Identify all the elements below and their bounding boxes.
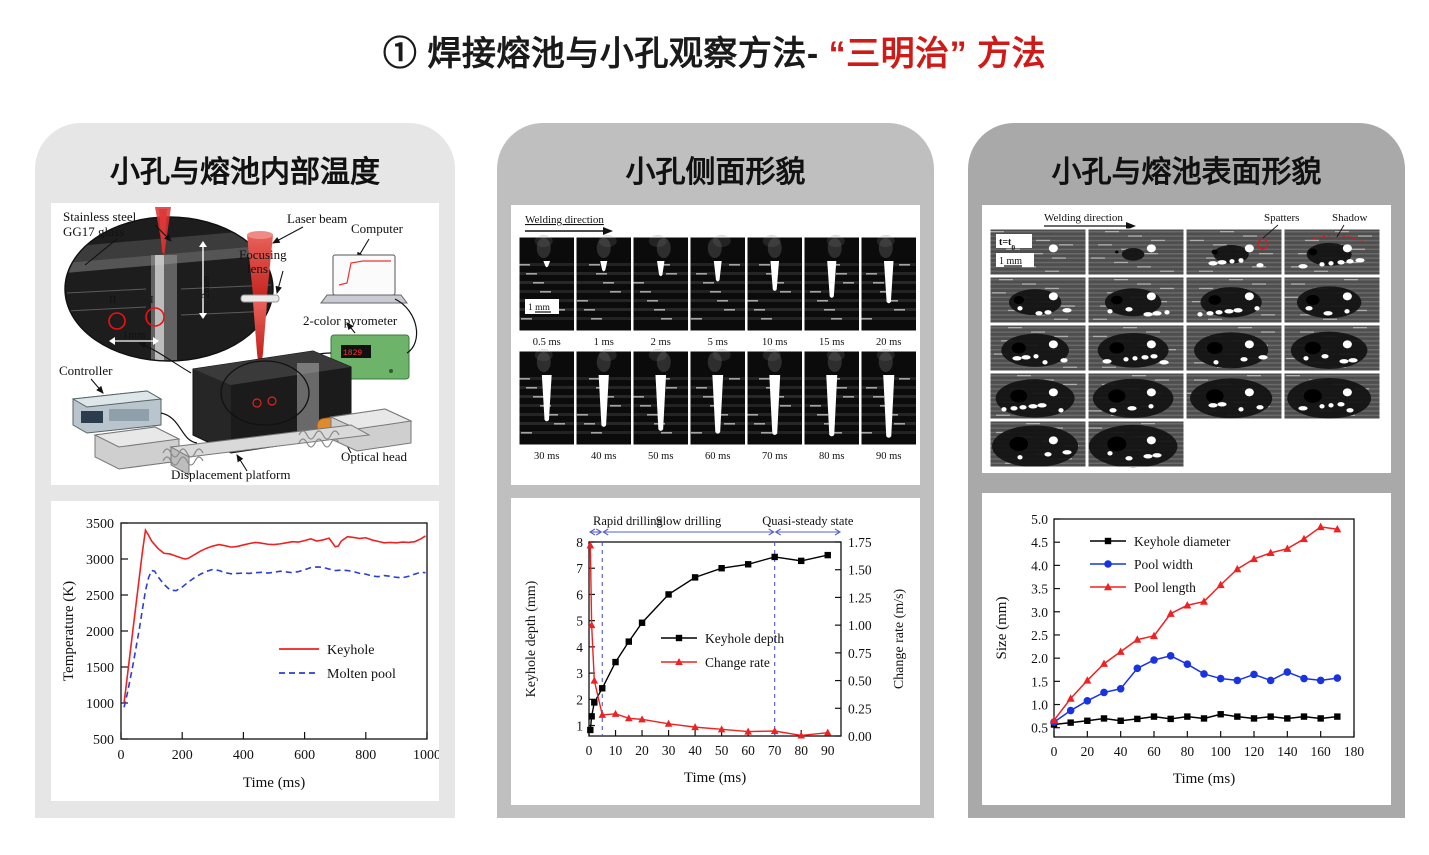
lens-label: lens bbox=[247, 261, 268, 276]
svg-text:40: 40 bbox=[688, 743, 702, 758]
svg-text:100: 100 bbox=[1211, 744, 1232, 759]
svg-text:0.25: 0.25 bbox=[848, 701, 872, 716]
frame-time-label: 70 ms bbox=[762, 451, 787, 462]
svg-text:180: 180 bbox=[1344, 744, 1365, 759]
svg-text:400: 400 bbox=[233, 748, 254, 763]
stainless-steel-label: Stainless steel bbox=[63, 209, 137, 224]
svg-text:1.5: 1.5 bbox=[1031, 674, 1048, 689]
svg-text:200: 200 bbox=[172, 748, 193, 763]
panel-1-title: 小孔与熔池内部温度 bbox=[35, 147, 455, 191]
svg-text:800: 800 bbox=[355, 748, 376, 763]
slide-number: ① bbox=[383, 35, 418, 73]
svg-text:2.5: 2.5 bbox=[1031, 628, 1048, 643]
welding-direction-label: Welding direction bbox=[1044, 212, 1123, 224]
svg-text:160: 160 bbox=[1311, 744, 1332, 759]
svg-text:2500: 2500 bbox=[86, 589, 114, 604]
svg-text:1.0: 1.0 bbox=[1031, 698, 1048, 713]
displacement-platform-label: Displacement platform bbox=[171, 467, 291, 482]
surface-frame bbox=[990, 277, 1086, 323]
phase-annotation: Slow drilling bbox=[656, 514, 722, 528]
gg17-glass-label: GG17 glass bbox=[63, 224, 124, 239]
svg-text:0: 0 bbox=[118, 748, 125, 763]
surface-frame bbox=[1284, 277, 1380, 323]
focusing-label: Focusing bbox=[239, 247, 287, 262]
surface-frame bbox=[1284, 373, 1380, 419]
svg-text:3: 3 bbox=[576, 666, 583, 681]
svg-text:5: 5 bbox=[576, 614, 583, 629]
svg-text:0: 0 bbox=[586, 743, 593, 758]
svg-text:1.75: 1.75 bbox=[848, 535, 872, 550]
computer-illustration bbox=[321, 255, 407, 303]
svg-text:60: 60 bbox=[741, 743, 755, 758]
legend-pool-length: Pool length bbox=[1134, 580, 1196, 595]
temp-x-axis-label: Time (ms) bbox=[243, 775, 305, 791]
frame-time-label: 30 ms bbox=[534, 451, 559, 462]
svg-text:1.00: 1.00 bbox=[848, 618, 872, 633]
surface-frame bbox=[1088, 421, 1184, 468]
legend-pool-width: Pool width bbox=[1134, 557, 1193, 572]
experimental-setup-diagram: 2mm 1mm I II Stainless steel GG17 glass … bbox=[51, 203, 439, 485]
svg-text:1.25: 1.25 bbox=[848, 590, 872, 605]
svg-text:0.50: 0.50 bbox=[848, 674, 872, 689]
phase-annotation: Quasi-steady state bbox=[762, 514, 854, 528]
frame-time-label: 5 ms bbox=[708, 337, 728, 348]
legend-change-rate: Change rate bbox=[705, 655, 770, 670]
svg-text:8: 8 bbox=[576, 535, 583, 550]
surface-frame bbox=[1186, 229, 1282, 275]
surface-frame bbox=[1088, 325, 1184, 371]
svg-text:6: 6 bbox=[576, 587, 583, 602]
laser-beam-label: Laser beam bbox=[287, 211, 347, 226]
svg-text:3.0: 3.0 bbox=[1031, 605, 1048, 620]
surface-frame bbox=[1186, 373, 1282, 419]
surface-frame bbox=[1186, 325, 1282, 371]
welding-direction-label: Welding direction bbox=[525, 214, 604, 226]
pyrometer-label: 2-color pyrometer bbox=[303, 313, 398, 328]
svg-text:50: 50 bbox=[715, 743, 729, 758]
depth-y2-axis-label: Change rate (m/s) bbox=[892, 589, 907, 690]
svg-text:4.5: 4.5 bbox=[1031, 535, 1048, 550]
svg-text:120: 120 bbox=[1244, 744, 1265, 759]
surface-frame bbox=[1284, 229, 1380, 275]
pool-size-chart: 0.51.01.52.02.53.03.54.04.55.00204060801… bbox=[982, 493, 1391, 805]
frame-time-label: 80 ms bbox=[819, 451, 844, 462]
panel-internal-temperature: 小孔与熔池内部温度 bbox=[35, 123, 455, 818]
svg-text:1000: 1000 bbox=[413, 748, 439, 763]
frame-time-label: 15 ms bbox=[819, 337, 844, 348]
frame-time-label: 90 ms bbox=[876, 451, 901, 462]
svg-text:4.0: 4.0 bbox=[1031, 558, 1048, 573]
frame-time-label: 10 ms bbox=[762, 337, 787, 348]
surface-frame bbox=[1088, 229, 1184, 275]
surface-frame bbox=[1088, 373, 1184, 419]
surface-frame bbox=[1284, 325, 1380, 371]
title-highlight-text: “三明治” 方法 bbox=[829, 35, 1046, 73]
frame-time-label: 0.5 ms bbox=[533, 337, 561, 348]
svg-text:80: 80 bbox=[1181, 744, 1195, 759]
keyhole-side-frames-grid: Welding direction0.5 ms1 ms2 ms5 ms10 ms… bbox=[511, 205, 920, 485]
shadow-label: Shadow bbox=[1332, 212, 1368, 224]
page-title: ① 焊接熔池与小孔观察方法- “三明治” 方法 bbox=[0, 26, 1429, 75]
legend-keyhole-depth: Keyhole depth bbox=[705, 631, 784, 646]
computer-label: Computer bbox=[351, 221, 404, 236]
svg-text:4: 4 bbox=[576, 640, 583, 655]
region-I-label: I bbox=[150, 294, 154, 306]
svg-text:0: 0 bbox=[1051, 744, 1058, 759]
svg-text:20: 20 bbox=[1081, 744, 1095, 759]
temperature-chart: 5001000150020002500300035000200400600800… bbox=[51, 501, 439, 801]
depth-x-axis-label: Time (ms) bbox=[684, 770, 746, 786]
title-main-text: 焊接熔池与小孔观察方法- bbox=[427, 35, 818, 73]
size-y-axis-label: Size (mm) bbox=[994, 597, 1010, 660]
surface-frames-grid: Welding directionSpattersShadowt=t01 mm bbox=[982, 205, 1391, 473]
legend-keyhole: Keyhole bbox=[327, 643, 374, 658]
keyhole-depth-chart: 123456780.000.250.500.751.001.251.501.75… bbox=[511, 498, 920, 805]
svg-text:1.50: 1.50 bbox=[848, 563, 872, 578]
scale-bar-label: 1 mm bbox=[999, 256, 1022, 267]
svg-text:60: 60 bbox=[1147, 744, 1161, 759]
svg-text:2: 2 bbox=[576, 692, 583, 707]
depth-y-axis-label: Keyhole depth (mm) bbox=[524, 580, 539, 697]
svg-text:7: 7 bbox=[576, 561, 583, 576]
legend-molten-pool: Molten pool bbox=[327, 667, 396, 682]
surface-frame bbox=[1088, 277, 1184, 323]
svg-text:10: 10 bbox=[609, 743, 623, 758]
optical-head-label: Optical head bbox=[341, 449, 408, 464]
svg-text:70: 70 bbox=[768, 743, 782, 758]
svg-text:80: 80 bbox=[794, 743, 808, 758]
svg-text:500: 500 bbox=[93, 733, 114, 748]
surface-frame bbox=[990, 421, 1086, 467]
phase-annotation: Rapid drilling bbox=[593, 514, 664, 528]
svg-text:1829: 1829 bbox=[343, 349, 362, 358]
svg-text:90: 90 bbox=[821, 743, 835, 758]
svg-text:1000: 1000 bbox=[86, 697, 114, 712]
surface-frame bbox=[990, 373, 1086, 419]
svg-text:0.00: 0.00 bbox=[848, 729, 872, 744]
svg-text:30: 30 bbox=[662, 743, 676, 758]
frame-time-label: 20 ms bbox=[876, 337, 901, 348]
surface-frame bbox=[990, 325, 1086, 371]
controller-illustration bbox=[73, 391, 161, 433]
legend-keyhole-diameter: Keyhole diameter bbox=[1134, 534, 1231, 549]
region-II-label: II bbox=[109, 294, 117, 306]
svg-text:20: 20 bbox=[635, 743, 649, 758]
frame-time-label: 50 ms bbox=[648, 451, 673, 462]
svg-text:140: 140 bbox=[1277, 744, 1298, 759]
svg-text:3500: 3500 bbox=[86, 517, 114, 532]
controller-label: Controller bbox=[59, 363, 113, 378]
svg-text:1: 1 bbox=[576, 719, 583, 734]
frame-time-label: 2 ms bbox=[651, 337, 671, 348]
svg-text:2000: 2000 bbox=[86, 625, 114, 640]
frame-time-label: 40 ms bbox=[591, 451, 616, 462]
panel-3-title: 小孔与熔池表面形貌 bbox=[968, 147, 1405, 191]
frame-time-label: 1 ms bbox=[594, 337, 614, 348]
surface-frame bbox=[1186, 277, 1282, 323]
spatters-label: Spatters bbox=[1264, 212, 1299, 224]
dimension-2mm-label: 2mm bbox=[200, 275, 212, 298]
panel-surface-morphology: 小孔与熔池表面形貌 Welding directionSpattersShado… bbox=[968, 123, 1405, 818]
frame-time-label: 60 ms bbox=[705, 451, 730, 462]
svg-text:2.0: 2.0 bbox=[1031, 651, 1048, 666]
svg-text:1500: 1500 bbox=[86, 661, 114, 676]
panel-2-title: 小孔侧面形貌 bbox=[497, 147, 934, 191]
temp-y-axis-label: Temperature (K) bbox=[61, 581, 77, 681]
svg-text:5.0: 5.0 bbox=[1031, 512, 1048, 527]
svg-text:3.5: 3.5 bbox=[1031, 582, 1048, 597]
svg-text:40: 40 bbox=[1114, 744, 1128, 759]
svg-text:3000: 3000 bbox=[86, 553, 114, 568]
panel-keyhole-side-view: 小孔侧面形貌 Welding direction0.5 ms1 ms2 ms5 … bbox=[497, 123, 934, 818]
svg-text:600: 600 bbox=[294, 748, 315, 763]
svg-text:0.5: 0.5 bbox=[1031, 721, 1048, 736]
svg-text:0.75: 0.75 bbox=[848, 646, 872, 661]
dimension-1mm-label: 1mm bbox=[123, 329, 146, 341]
size-x-axis-label: Time (ms) bbox=[1173, 771, 1235, 787]
